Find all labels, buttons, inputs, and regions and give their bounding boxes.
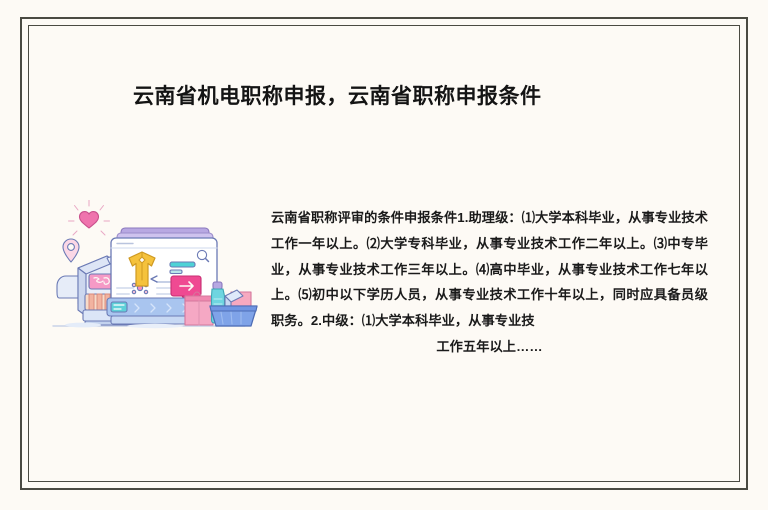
article-body: 云南省职称评审的条件申报条件1.助理级：⑴大学本科毕业，从事专业技术工作一年以上… — [271, 205, 708, 386]
article-page: 云南省机电职称申报，云南省职称申报条件 — [0, 0, 768, 510]
shopping-bag — [185, 292, 213, 325]
article-body-last-line: 工作五年以上…… — [271, 334, 708, 360]
article-body-main: 云南省职称评审的条件申报条件1.助理级：⑴大学本科毕业，从事专业技术工作一年以上… — [271, 210, 708, 328]
location-pin-icon — [63, 239, 79, 262]
online-shopping-illustration — [45, 200, 260, 335]
heart-sparkle-icon — [69, 200, 110, 235]
page-title: 云南省机电职称申报，云南省职称申报条件 — [133, 80, 542, 110]
